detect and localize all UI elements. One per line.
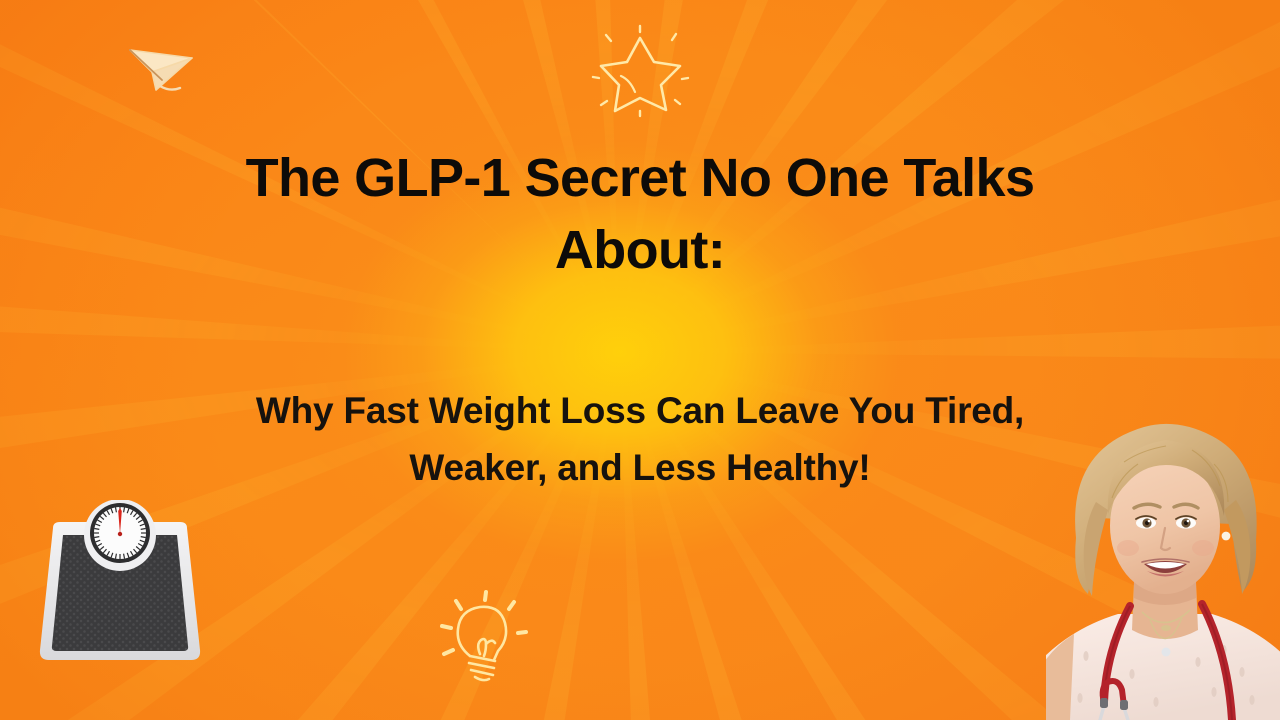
page-title: The GLP-1 Secret No One Talks About: — [0, 143, 1280, 287]
paper-plane-icon — [122, 28, 202, 106]
presenter-photo — [1046, 406, 1280, 720]
star-icon — [588, 22, 692, 118]
lightbulb-icon — [432, 588, 534, 686]
slide-canvas: The GLP-1 Secret No One Talks About: Why… — [0, 0, 1280, 720]
bathroom-scale-graphic — [30, 500, 210, 672]
